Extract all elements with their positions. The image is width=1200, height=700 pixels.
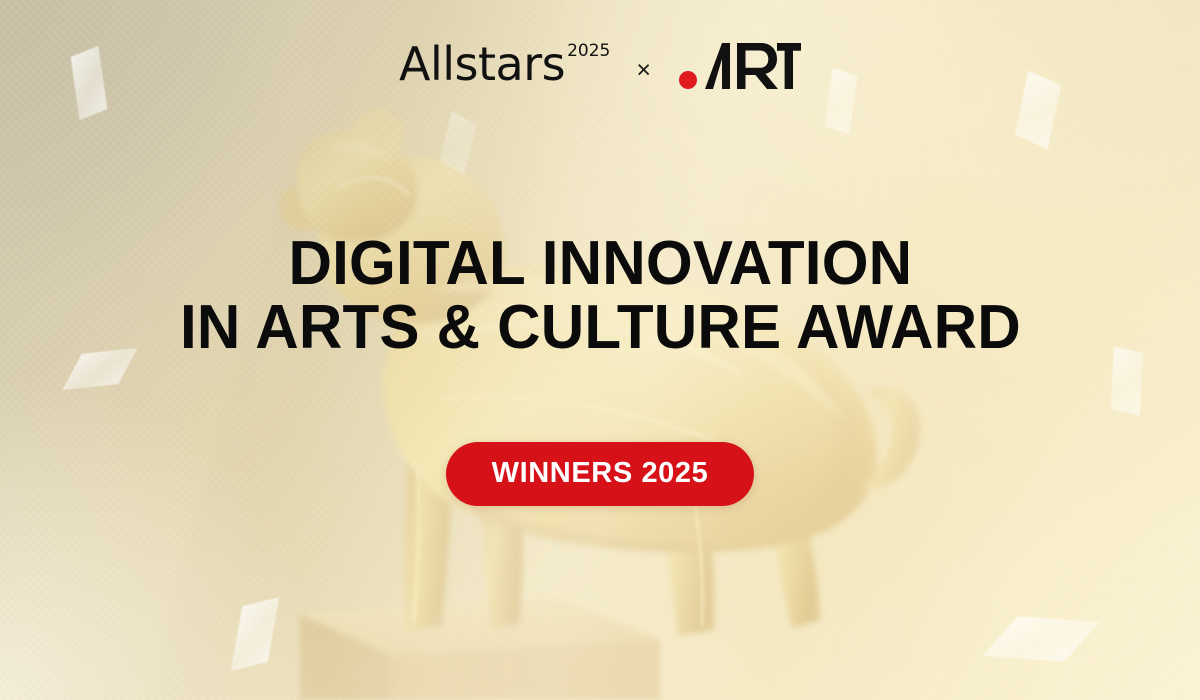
winners-badge[interactable]: WINNERS 2025: [446, 442, 755, 506]
page-title: DIGITAL INNOVATION IN ARTS & CULTURE AWA…: [180, 232, 1021, 361]
allstars-year-superscript: 2025: [567, 43, 610, 60]
allstars-logo: Allstars 2025: [399, 41, 610, 87]
art-logo-mark: [677, 41, 801, 91]
red-dot-icon: [679, 71, 697, 89]
lockup-separator-x: ×: [636, 58, 651, 83]
headline-line-1: DIGITAL INNOVATION: [180, 232, 1021, 296]
award-banner: Allstars 2025 × DIGITAL INNOVATION: [0, 0, 1200, 700]
art-logo: [677, 41, 801, 91]
allstars-wordmark: Allstars: [399, 41, 565, 87]
logo-lockup: Allstars 2025 ×: [399, 34, 801, 94]
banner-content: Allstars 2025 × DIGITAL INNOVATION: [0, 0, 1200, 700]
headline-line-2: IN ARTS & CULTURE AWARD: [180, 296, 1021, 360]
